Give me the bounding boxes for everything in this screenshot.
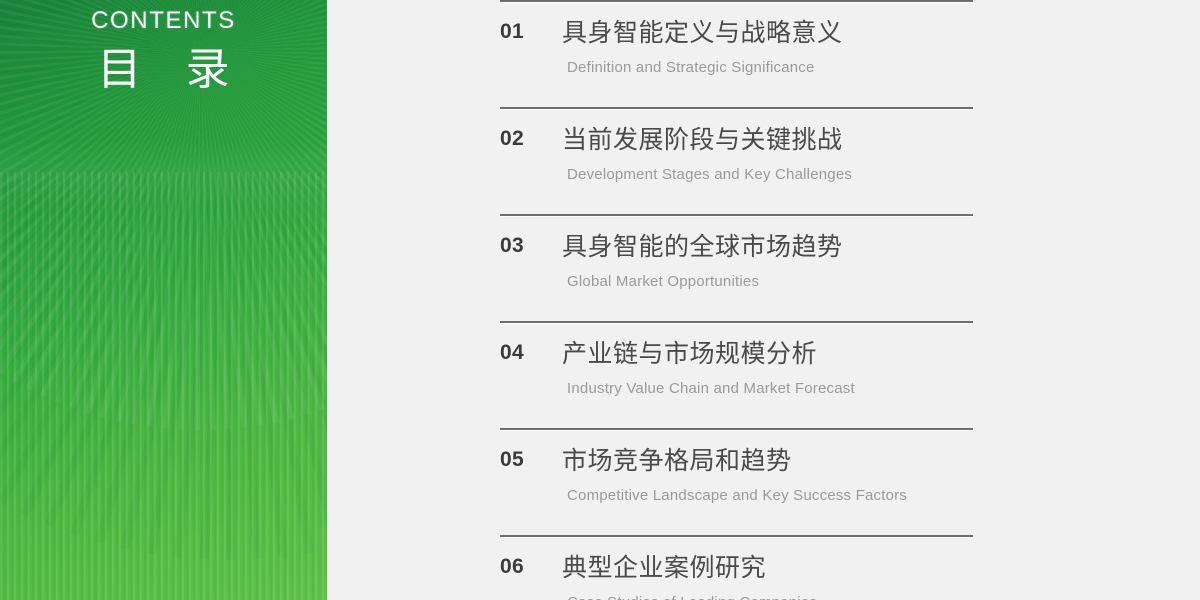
toc-title-en: Case Studies of Leading Companies: [567, 593, 973, 600]
toc-title-cn: 市场竞争格局和趋势: [562, 446, 973, 477]
toc-item-05[interactable]: 05 市场竞争格局和趋势 Competitive Landscape and K…: [500, 430, 973, 535]
toc-number: 01: [500, 18, 562, 45]
toc-title-en: Industry Value Chain and Market Forecast: [567, 379, 973, 398]
toc-item-02[interactable]: 02 当前发展阶段与关键挑战 Development Stages and Ke…: [500, 109, 973, 214]
toc-title-en: Development Stages and Key Challenges: [567, 165, 973, 184]
toc-item-06[interactable]: 06 典型企业案例研究 Case Studies of Leading Comp…: [500, 537, 973, 600]
cover-panel: CONTENTS 目 录: [0, 0, 327, 600]
contents-label-en: CONTENTS: [0, 6, 327, 36]
toc-title-cn: 具身智能定义与战略意义: [562, 18, 973, 49]
toc-title-cn: 产业链与市场规模分析: [562, 339, 973, 370]
cover-panel-text: CONTENTS 目 录: [0, 0, 327, 98]
toc-number: 03: [500, 232, 562, 259]
toc-item-04[interactable]: 04 产业链与市场规模分析 Industry Value Chain and M…: [500, 323, 973, 428]
toc-item-03[interactable]: 03 具身智能的全球市场趋势 Global Market Opportuniti…: [500, 216, 973, 321]
toc-item-01[interactable]: 01 具身智能定义与战略意义 Definition and Strategic …: [500, 2, 973, 107]
toc-number: 05: [500, 446, 562, 473]
slide-canvas: CONTENTS 目 录 01 具身智能定义与战略意义 Definition a…: [0, 0, 1200, 600]
toc-title-en: Global Market Opportunities: [567, 272, 973, 291]
table-of-contents: 01 具身智能定义与战略意义 Definition and Strategic …: [500, 0, 973, 600]
panel-gradient-blend: [0, 140, 327, 210]
toc-title-cn: 具身智能的全球市场趋势: [562, 232, 973, 263]
toc-title-en: Competitive Landscape and Key Success Fa…: [567, 486, 973, 505]
toc-title-en: Definition and Strategic Significance: [567, 58, 973, 77]
toc-number: 04: [500, 339, 562, 366]
pinstripe-texture: [0, 172, 327, 600]
contents-label-cn: 目 录: [0, 42, 327, 98]
toc-number: 02: [500, 125, 562, 152]
toc-title-cn: 当前发展阶段与关键挑战: [562, 125, 973, 156]
pinstripe-texture-shadow: [0, 172, 327, 600]
toc-number: 06: [500, 553, 562, 580]
toc-title-cn: 典型企业案例研究: [562, 553, 973, 584]
